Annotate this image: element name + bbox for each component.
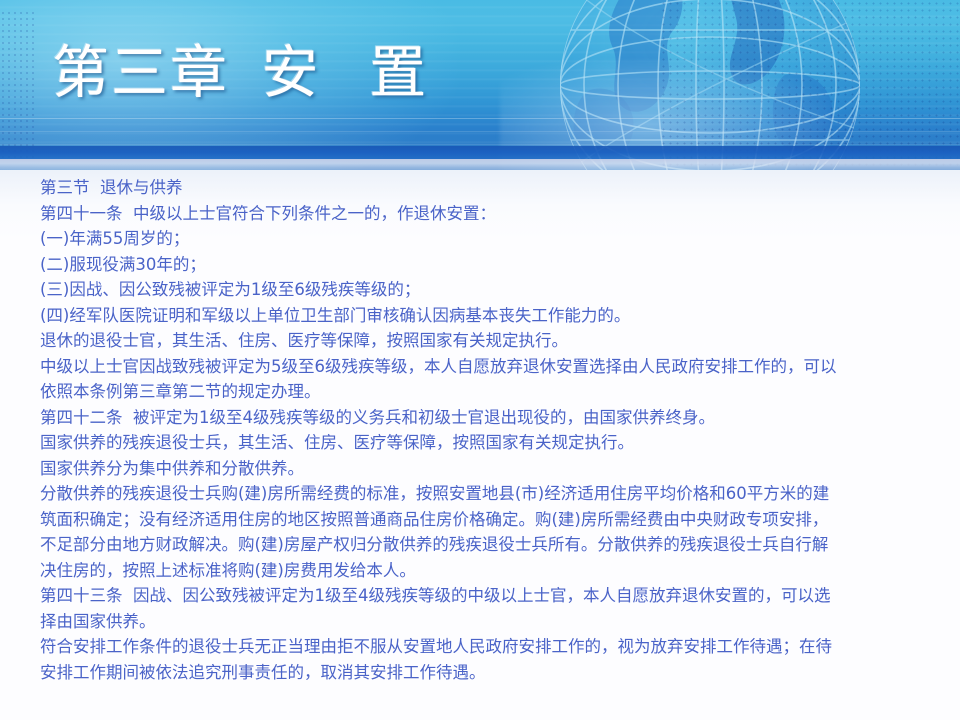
- body-line: 国家供养的残疾退役士兵，其生活、住房、医疗等保障，按照国家有关规定执行。: [40, 430, 930, 456]
- banner-separator-line: [0, 144, 960, 145]
- body-line: (四)经军队医院证明和军级以上单位卫生部门审核确认因病基本丧失工作能力的。: [40, 303, 930, 329]
- body-line: 决住房的，按照上述标准将购(建)房费用发给本人。: [40, 558, 930, 584]
- presentation-slide: 第三章 安 置 第三节 退休与供养 第四十一条 中级以上士官符合下列条件之一的，…: [0, 0, 960, 720]
- banner-separator-line: [0, 131, 960, 132]
- body-line: 筑面积确定；没有经济适用住房的地区按照普通商品住房价格确定。购(建)房所需经费由…: [40, 507, 930, 533]
- slide-body-text: 第三节 退休与供养 第四十一条 中级以上士官符合下列条件之一的，作退休安置： (…: [40, 175, 930, 685]
- banner-separator-line: [0, 118, 960, 119]
- body-line: (一)年满55周岁的；: [40, 226, 930, 252]
- body-line: 依照本条例第三章第二节的规定办理。: [40, 379, 930, 405]
- banner-bottom-band: [0, 146, 960, 160]
- body-line: (三)因战、因公致残被评定为1级至6级残疾等级的；: [40, 277, 930, 303]
- body-line: 安排工作期间被依法追究刑事责任的，取消其安排工作待遇。: [40, 660, 930, 686]
- banner-bottom-fade: [0, 159, 960, 170]
- body-line: 不足部分由地方财政解决。购(建)房屋产权归分散供养的残疾退役士兵所有。分散供养的…: [40, 532, 930, 558]
- body-line: 退休的退役士官，其生活、住房、医疗等保障，按照国家有关规定执行。: [40, 328, 930, 354]
- body-line: (二)服现役满30年的；: [40, 252, 930, 278]
- body-line: 第四十三条 因战、因公致残被评定为1级至4级残疾等级的中级以上士官，本人自愿放弃…: [40, 583, 930, 609]
- body-line: 中级以上士官因战致残被评定为5级至6级残疾等级，本人自愿放弃退休安置选择由人民政…: [40, 354, 930, 380]
- body-line: 国家供养分为集中供养和分散供养。: [40, 456, 930, 482]
- body-line: 第四十二条 被评定为1级至4级残疾等级的义务兵和初级士官退出现役的，由国家供养终…: [40, 405, 930, 431]
- slide-title: 第三章 安 置: [52, 38, 428, 110]
- body-line: 分散供养的残疾退役士兵购(建)房所需经费的标准，按照安置地县(市)经济适用住房平…: [40, 481, 930, 507]
- body-line: 第三节 退休与供养: [40, 175, 930, 201]
- body-line: 第四十一条 中级以上士官符合下列条件之一的，作退休安置：: [40, 201, 930, 227]
- banner-dot-matrix-left: [0, 10, 34, 160]
- body-line: 择由国家供养。: [40, 609, 930, 635]
- body-line: 符合安排工作条件的退役士兵无正当理由拒不服从安置地人民政府安排工作的，视为放弃安…: [40, 634, 930, 660]
